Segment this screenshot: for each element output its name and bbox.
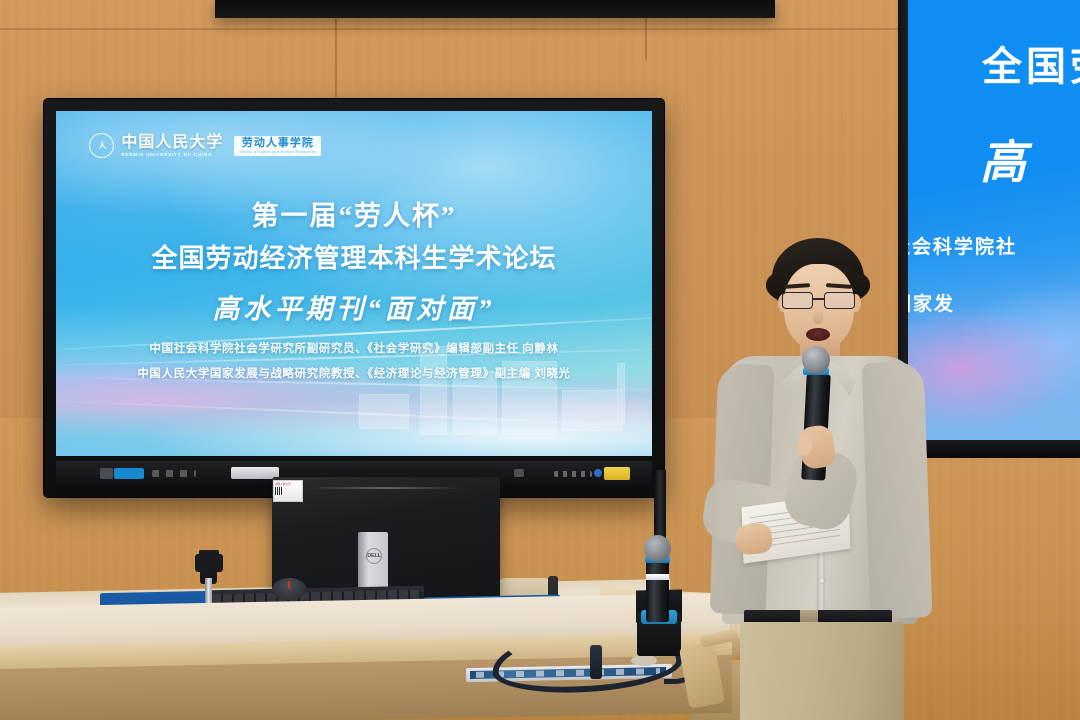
school-badge: 劳动人事学院 School of Labor and Human Resourc…	[234, 136, 321, 156]
cable-plug	[590, 645, 602, 679]
mouse[interactable]	[272, 578, 306, 601]
asset-tag-qr-icon	[275, 487, 283, 495]
university-name-cn: 中国人民大学	[121, 135, 223, 152]
presentation-slide: 人 中国人民大学 RENMIN UNIVERSITY OF CHINA 劳动人事…	[56, 111, 652, 456]
handheld-microphone-grille-icon	[802, 346, 830, 374]
renmin-seal-icon: 人	[89, 133, 114, 158]
ceiling-dark-band	[215, 0, 775, 18]
display-yellow-sticker	[604, 467, 630, 480]
eyeglass-lens-left	[782, 292, 813, 309]
photo-scene: 人 中国人民大学 RENMIN UNIVERSITY OF CHINA 劳动人事…	[0, 0, 1080, 720]
university-name-en: RENMIN UNIVERSITY OF CHINA	[121, 152, 223, 157]
display-port-blue[interactable]	[114, 468, 144, 479]
projection-line1: 全国劳	[982, 34, 1080, 92]
display-port-group[interactable]	[152, 470, 196, 477]
slide-speaker-line2: 中国人民大学国家发展与战略研究院教授、《经济理论与经济管理》副主编 刘晓光	[56, 365, 652, 381]
university-logo: 人 中国人民大学 RENMIN UNIVERSITY OF CHINA 劳动人事…	[89, 133, 321, 158]
slide-title-line1: 第一届“劳人杯”	[56, 194, 652, 233]
display-power-led	[594, 469, 602, 477]
dell-logo: DELL	[366, 548, 382, 564]
presenter-nose	[813, 310, 823, 324]
slide-speaker-line1: 中国社会科学院社会学研究所副研究员、《社会学研究》编辑部副主任 向静林	[56, 340, 652, 356]
wall-display[interactable]: 人 中国人民大学 RENMIN UNIVERSITY OF CHINA 劳动人事…	[44, 99, 664, 497]
side-table-grommet	[631, 655, 657, 666]
microphone-grille-icon	[644, 535, 671, 562]
eyeglass-lens-right	[824, 292, 855, 309]
slide-title-line2: 全国劳动经济管理本科生学术论坛	[56, 238, 652, 275]
shirt-button	[819, 578, 824, 583]
asset-tag-text: 中国人民大学	[275, 482, 301, 486]
display-port-dark[interactable]	[100, 468, 113, 479]
standby-microphone-body[interactable]	[646, 558, 669, 622]
presenter-left-hand	[735, 522, 774, 556]
display-screen: 人 中国人民大学 RENMIN UNIVERSITY OF CHINA 劳动人事…	[56, 111, 652, 456]
presenter-trousers	[740, 622, 904, 720]
projection-line2: 高	[918, 126, 1080, 192]
slide-title-line3: 高水平期刊“面对面”	[56, 287, 652, 326]
presenter-mouth	[806, 328, 830, 341]
monitor-asset-tag: 中国人民大学	[273, 480, 303, 502]
school-name-en: School of Labor and Human Resources	[239, 150, 316, 154]
display-port-row-right[interactable]	[554, 471, 592, 477]
slide-text-block: 第一届“劳人杯” 全国劳动经济管理本科生学术论坛 高水平期刊“面对面” 中国社会…	[56, 194, 652, 381]
presenter	[700, 238, 940, 720]
eyeglass-bridge	[813, 298, 824, 300]
seal-glyph: 人	[98, 140, 105, 151]
display-port-dot[interactable]	[514, 469, 524, 477]
microphone-label-band	[646, 574, 669, 580]
eyeglasses-icon	[780, 292, 860, 310]
school-name-cn: 劳动人事学院	[242, 138, 314, 149]
